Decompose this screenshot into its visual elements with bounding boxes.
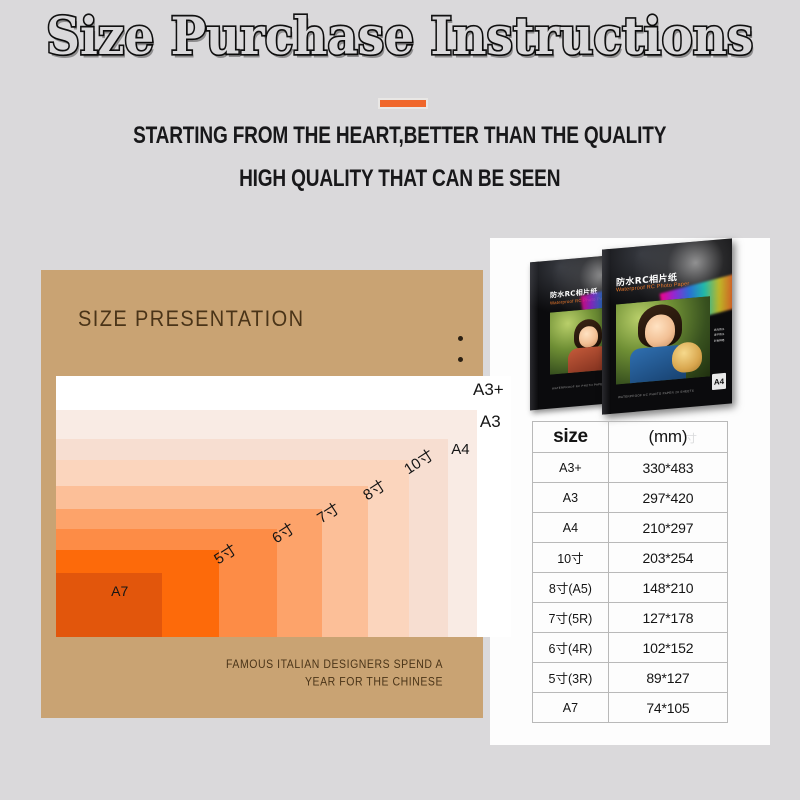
size-cell-mm: 210*297 (608, 513, 727, 543)
size-cell-name: A3 (533, 483, 609, 513)
product-and-table-panel: 防水RC相片纸 Waterproof RC Photo Paper WATERP… (490, 238, 770, 745)
size-table-row: 6寸(4R)102*152 (533, 633, 728, 663)
size-cell-mm: 203*254 (608, 543, 727, 573)
size-table-row: A3+330*483 (533, 453, 728, 483)
size-diagram: A3+A3A410寸8寸7寸6寸5寸A7 (56, 376, 511, 637)
package-front-child-photo (616, 296, 710, 384)
size-presentation-heading: SIZE PRESENTATION (78, 307, 304, 333)
size-table: size (mm) A3+330*483A3297*420A4210*29710… (532, 421, 728, 723)
subtitle-line-2-text: HIGH QUALITY THAT CAN BE SEEN (239, 165, 560, 193)
size-rect-A7 (56, 573, 162, 637)
size-cell-name: A7 (533, 693, 609, 723)
size-rect-label: A7 (111, 583, 128, 599)
size-cell-name: A4 (533, 513, 609, 543)
size-table-row: A4210*297 (533, 513, 728, 543)
size-table-row: 8寸(A5)148*210 (533, 573, 728, 603)
size-table-row: 10寸203*254 (533, 543, 728, 573)
size-table-row: A774*105 (533, 693, 728, 723)
size-cell-mm: 102*152 (608, 633, 727, 663)
size-cell-name: A3+ (533, 453, 609, 483)
decor-dot-1-icon (458, 336, 463, 341)
panel-footer-line-1: FAMOUS ITALIAN DESIGNERS SPEND A (226, 658, 443, 671)
size-cell-mm: 148*210 (608, 573, 727, 603)
subtitle-line-1: STARTING FROM THE HEART,BETTER THAN THE … (0, 124, 800, 148)
size-rect-label: A3 (480, 412, 501, 432)
package-bullet-3: 彩色鲜艳 (714, 338, 724, 344)
size-rect-label: A4 (451, 441, 469, 458)
subtitle-line-1-text: STARTING FROM THE HEART,BETTER THAN THE … (133, 122, 666, 150)
package-front-size-badge: A4 (712, 373, 726, 390)
size-cell-name: 8寸(A5) (533, 573, 609, 603)
size-cell-mm: 89*127 (608, 663, 727, 693)
package-back-footer: WATERPROOF RC PHOTO PAPER (552, 382, 605, 391)
package-front: 防水RC相片纸 Waterproof RC Photo Paper 高光防水 速… (602, 238, 732, 414)
subtitle-line-2: HIGH QUALITY THAT CAN BE SEEN (0, 167, 800, 191)
size-cell-name: 10寸 (533, 543, 609, 573)
size-presentation-panel: SIZE PRESENTATION A3+A3A410寸8寸7寸6寸5寸A7 F… (41, 270, 483, 718)
package-front-bullets: 高光防水 速干防水 彩色鲜艳 (714, 327, 724, 344)
package-front-footer: WATERPROOF RC PHOTO PAPER 20 SHEETS (618, 389, 694, 400)
size-cell-name: 6寸(4R) (533, 633, 609, 663)
page-title: Size Purchase Instructions (0, 12, 800, 60)
size-table-row: 7寸(5R)127*178 (533, 603, 728, 633)
decor-dot-2-icon (458, 357, 463, 362)
page-title-text: Size Purchase Instructions (46, 9, 753, 63)
size-cell-name: 7寸(5R) (533, 603, 609, 633)
size-table-row: 5寸(3R)89*127 (533, 663, 728, 693)
size-rect-label: A3+ (473, 380, 504, 400)
size-table-header-mm: (mm) (608, 422, 727, 453)
poster-canvas: Size Purchase Instructions STARTING FROM… (0, 0, 800, 800)
panel-footer-text: FAMOUS ITALIAN DESIGNERS SPEND A YEAR FO… (183, 656, 443, 692)
product-photo: 防水RC相片纸 Waterproof RC Photo Paper WATERP… (490, 238, 770, 413)
accent-divider (380, 100, 426, 107)
size-cell-mm: 127*178 (608, 603, 727, 633)
size-cell-mm: 330*483 (608, 453, 727, 483)
panel-footer-line-2: YEAR FOR THE CHINESE (305, 676, 443, 689)
size-table-row: A3297*420 (533, 483, 728, 513)
size-cell-name: 5寸(3R) (533, 663, 609, 693)
size-table-header-row: size (mm) (533, 422, 728, 453)
size-table-header-size: size (533, 422, 609, 453)
size-cell-mm: 297*420 (608, 483, 727, 513)
size-cell-mm: 74*105 (608, 693, 727, 723)
